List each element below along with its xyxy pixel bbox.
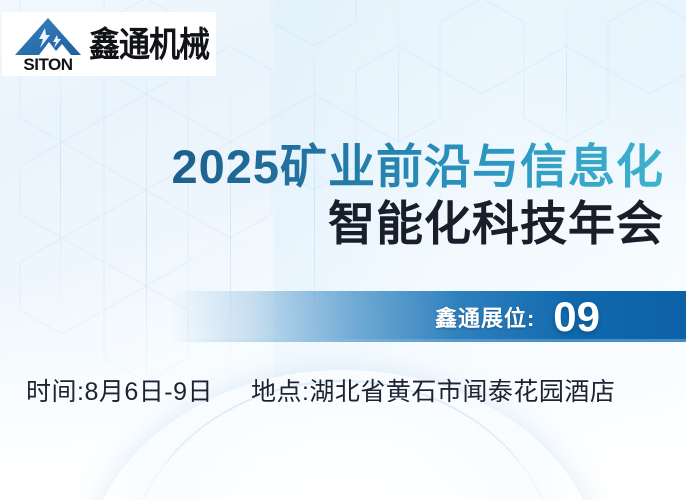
headline-line-2: 智能化科技年会: [0, 198, 664, 251]
headline-line-1: 2025矿业前沿与信息化: [0, 142, 664, 193]
poster-headline: 2025矿业前沿与信息化 智能化科技年会: [0, 142, 664, 250]
booth-banner: 鑫通展位: 09: [170, 291, 686, 342]
conference-poster: SITON 鑫通机械 2025矿业前沿与信息化 智能化科技年会 鑫通展位: 09…: [0, 0, 686, 500]
booth-number: 09: [553, 296, 600, 338]
brand-logo: SITON 鑫通机械: [2, 12, 216, 76]
booth-label: 鑫通展位:: [435, 301, 535, 333]
event-time: 时间:8月6日-9日: [26, 372, 213, 408]
event-info-row: 时间:8月6日-9日 地点:湖北省黄石市闻泰花园酒店: [0, 372, 686, 408]
background-line: [566, 0, 567, 160]
siton-mountain-logo-icon: SITON: [12, 15, 84, 73]
svg-text:SITON: SITON: [23, 55, 72, 73]
brand-name-chinese: 鑫通机械: [89, 27, 209, 62]
event-place: 地点:湖北省黄石市闻泰花园酒店: [251, 372, 615, 408]
